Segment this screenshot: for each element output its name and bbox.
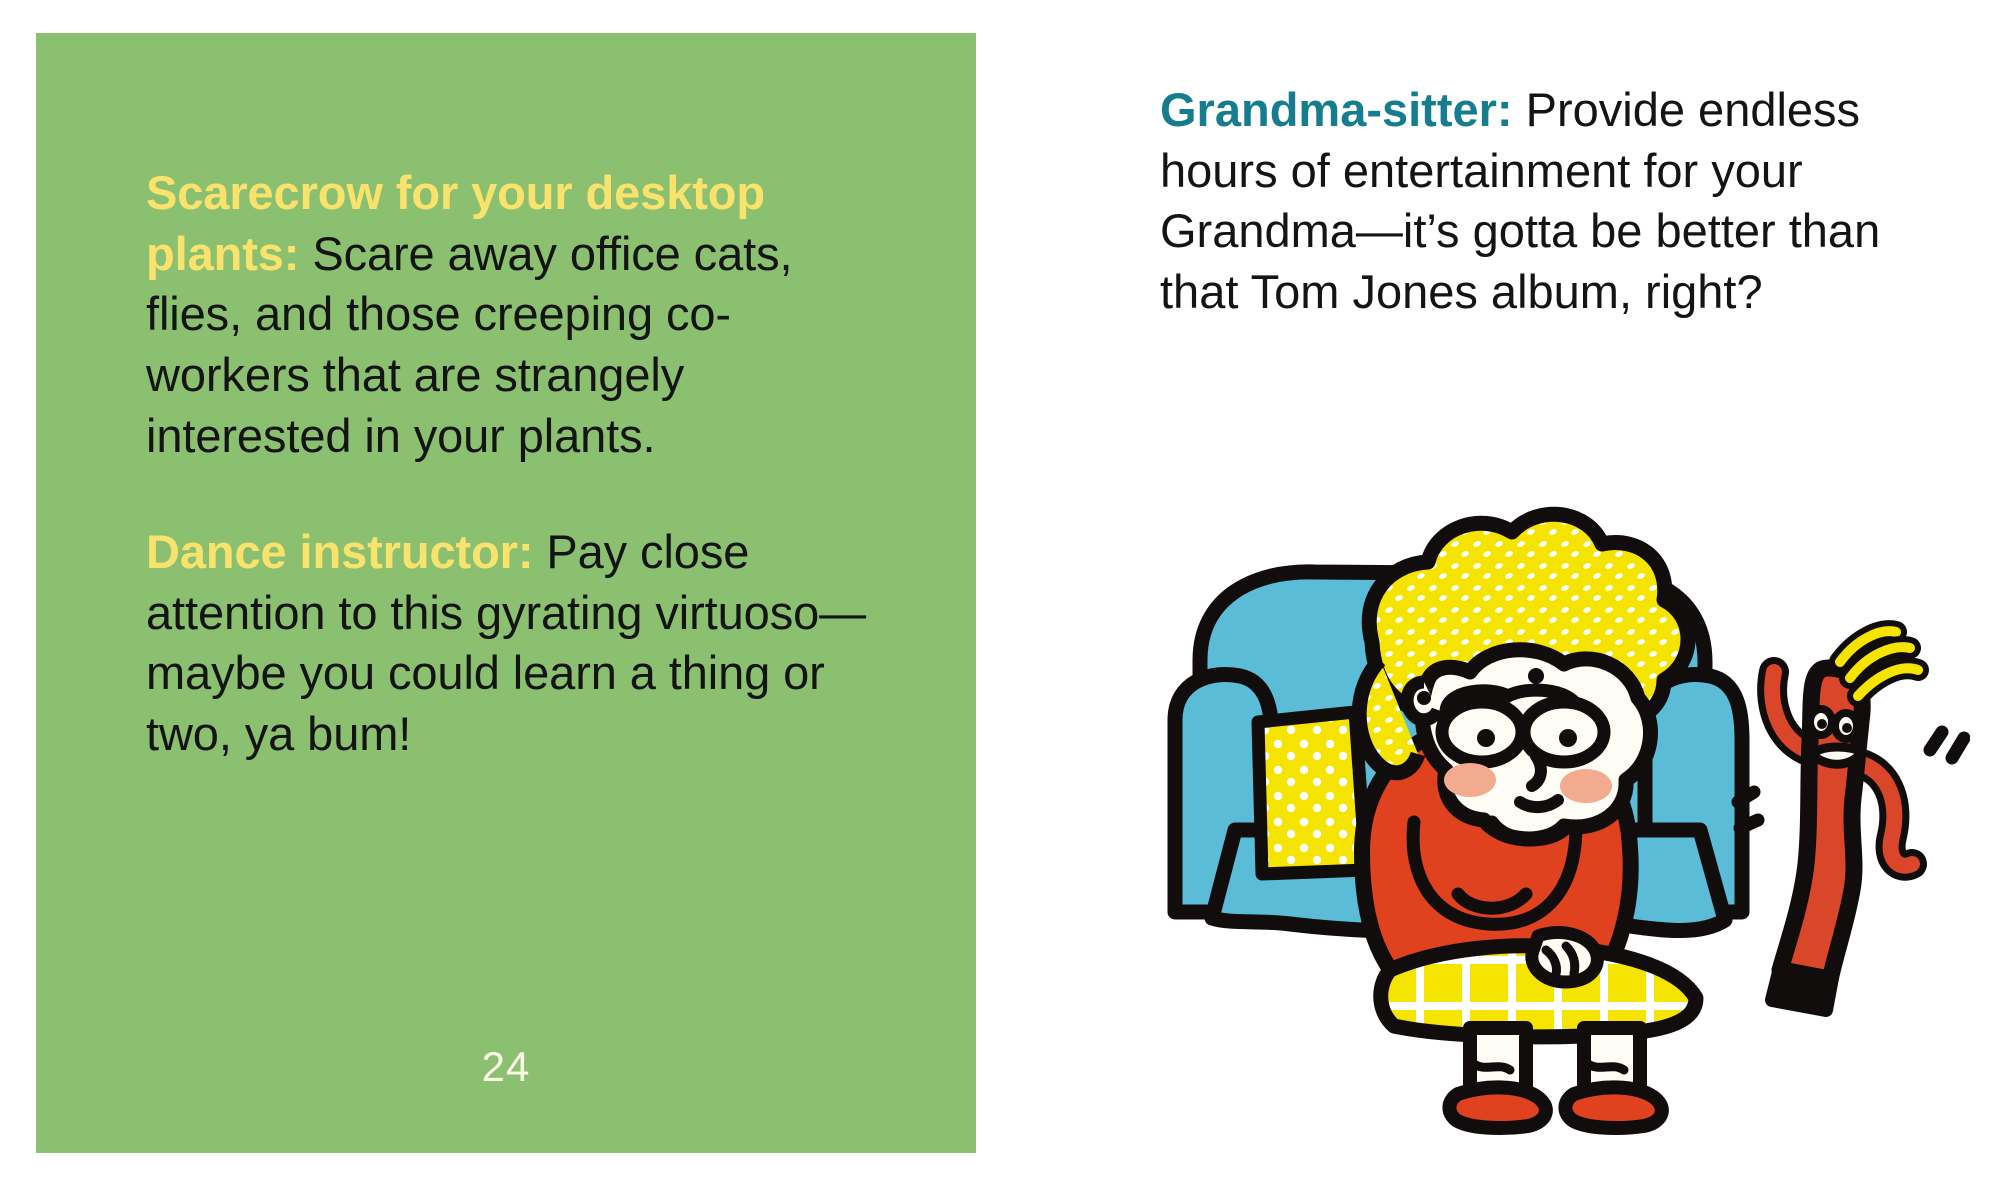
entry-grandma-sitter-lede: Grandma-sitter: [1160, 83, 1513, 136]
grandma-hands [1532, 933, 1598, 982]
chair-cushion-polka [1258, 712, 1366, 874]
cheek-left [1444, 763, 1496, 797]
grandma-illustration [1140, 450, 1970, 1150]
left-green-panel: Scarecrow for your desktop plants: Scare… [36, 33, 976, 1153]
eye-right [1559, 729, 1577, 747]
entry-dance-instructor: Dance instructor: Pay close attention to… [146, 522, 886, 765]
book-spread-page: Scarecrow for your desktop plants: Scare… [0, 0, 2000, 1190]
entry-dance-instructor-lede: Dance instructor: [146, 525, 533, 578]
entry-scarecrow: Scarecrow for your desktop plants: Scare… [146, 163, 886, 466]
mole [1528, 668, 1544, 684]
left-panel-text-block: Scarecrow for your desktop plants: Scare… [146, 163, 886, 821]
entry-scarecrow-paragraph: Scarecrow for your desktop plants: Scare… [146, 163, 886, 466]
entry-grandma-sitter-paragraph: Grandma-sitter: Provide endless hours of… [1160, 80, 1890, 323]
dancing-tube-man [1738, 631, 1964, 1010]
right-text-column: Grandma-sitter: Provide endless hours of… [1160, 80, 1890, 323]
grandma-illustration-svg [1140, 450, 1970, 1150]
entry-dance-instructor-paragraph: Dance instructor: Pay close attention to… [146, 522, 886, 765]
page-number: 24 [36, 1043, 976, 1091]
ear-detail [1417, 691, 1431, 705]
cheek-right [1560, 769, 1612, 803]
eye-left [1477, 729, 1495, 747]
